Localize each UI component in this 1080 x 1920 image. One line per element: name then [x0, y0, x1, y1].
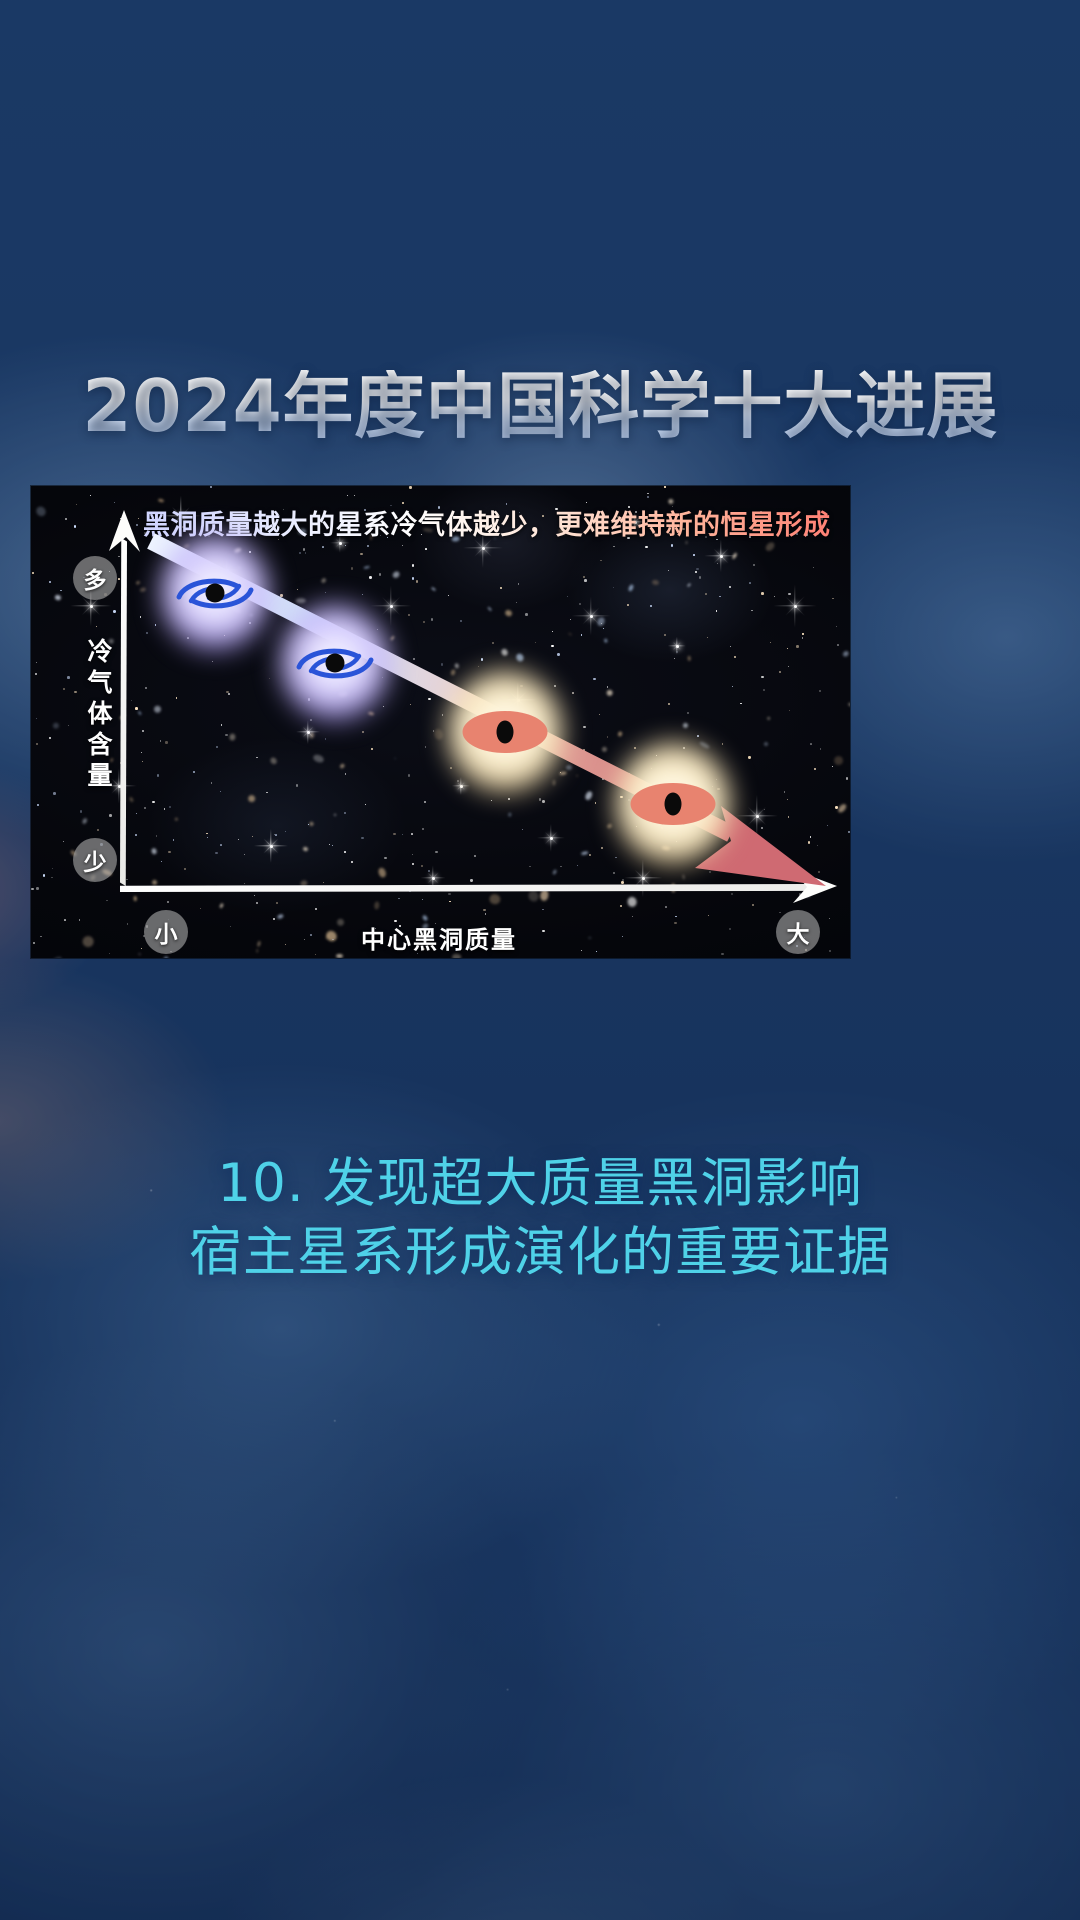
- black-hole-core: [665, 793, 682, 816]
- item-caption: 10. 发现超大质量黑洞影响 宿主星系形成演化的重要证据: [0, 1150, 1080, 1288]
- galaxy-red-2: [615, 742, 731, 866]
- black-hole-core: [497, 721, 514, 744]
- item-caption-line1: 10. 发现超大质量黑洞影响: [0, 1150, 1080, 1219]
- black-hole-core: [326, 654, 345, 673]
- trend-arrow: [31, 486, 850, 958]
- background: [0, 0, 1080, 1920]
- item-caption-line2: 宿主星系形成演化的重要证据: [0, 1219, 1080, 1288]
- page-title-text: 2024年度中国科学十大进展: [82, 370, 998, 442]
- galaxy-red-1: [447, 670, 563, 794]
- chart-panel: 黑洞质量越大的星系冷气体越少，更难维持新的恒星形成 多 少 小 大 冷气体含量 …: [31, 486, 850, 958]
- galaxy-blue-1: [160, 534, 270, 652]
- galaxy-blue-2: [280, 604, 390, 722]
- background-star-speckles: [0, 0, 1080, 1920]
- black-hole-core: [206, 584, 225, 603]
- page-title: 2024年度中国科学十大进展: [0, 352, 1080, 460]
